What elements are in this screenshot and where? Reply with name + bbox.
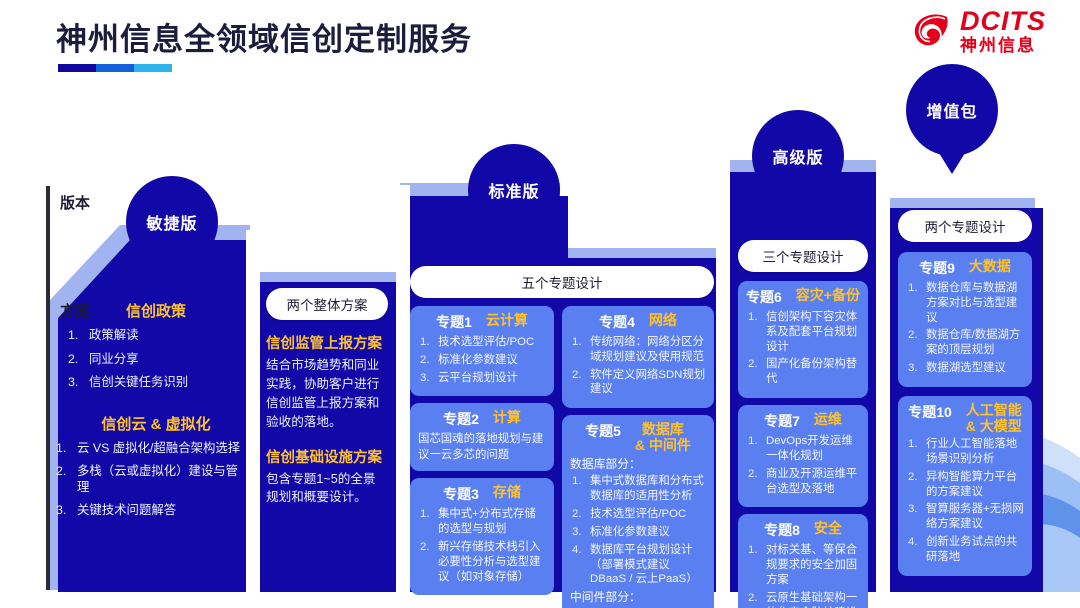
topic-card-8[interactable]: 专题8 安全 对标关基、等保合规要求的安全加固方案 云原生基础架构一体化安全防护… — [738, 514, 868, 608]
topic-card-9-num: 专题9 — [919, 258, 955, 278]
block-infrastructure-text: 包含专题1~5的全景规划和概要设计。 — [266, 470, 388, 508]
group-cloud-list: 云 VS 虚拟化/超融合架构选择 多栈（云或虚拟化）建设与管理 关键技术问题解答 — [56, 441, 244, 519]
list-item: 政策解读 — [68, 328, 244, 344]
list-item: 信创关键任务识别 — [68, 375, 244, 391]
list-item: 关键技术问题解答 — [56, 503, 244, 519]
list-item: 数据库平台规划设计（部署模式建议 DBaaS / 云上PaaS） — [570, 543, 706, 587]
topic-card-5[interactable]: 专题5 数据库 & 中间件 数据库部分： 集中式数据库和分布式数据库的适用性分析… — [562, 415, 714, 608]
page-title: 神州信息全领域信创定制服务 — [56, 14, 472, 59]
topic-card-1-num: 专题1 — [436, 312, 472, 332]
topic-card-3-topic: 存储 — [493, 484, 521, 500]
topic-card-6-num: 专题6 — [746, 287, 782, 307]
block-supervision-title: 信创监管上报方案 — [266, 332, 388, 353]
topic-card-9-list: 数据仓库与数据湖方案对比与选型建议 数据仓库/数据湖方案的顶层规划 数据湖选型建… — [906, 281, 1024, 376]
block-infrastructure-title: 信创基础设施方案 — [266, 446, 388, 467]
logo-en-text: DCITS — [960, 8, 1046, 35]
slide-canvas: 神州信息全领域信创定制服务 DCITS 神州信息 版本 方案 敏捷版 标准版 高… — [0, 0, 1080, 608]
list-item: 云平台规划设计 — [418, 371, 546, 386]
list-item: 技术选型评估/POC — [570, 507, 706, 522]
list-item: 传统网络：网络分区分域规划建议及使用规范 — [570, 335, 706, 365]
list-item: 创新业务试点的共研落地 — [906, 535, 1024, 565]
topic-card-10-list: 行业人工智能落地场景识别分析 异构智能算力平台的方案建议 智算服务器+无损网络方… — [906, 437, 1024, 565]
topic-card-6-topic: 容灾+备份 — [796, 287, 860, 303]
brand-logo: DCITS 神州信息 — [909, 8, 1046, 54]
pill-two-topic-designs[interactable]: 两个专题设计 — [898, 210, 1032, 242]
group-policy-list: 政策解读 同业分享 信创关键任务识别 — [68, 328, 244, 391]
topic-card-7-list: DevOps开发运维一体化规划 商业及开源运维平台选型及落地 — [746, 434, 860, 496]
list-item: 多栈（云或虚拟化）建设与管理 — [56, 464, 244, 495]
topic-card-5-sub-db: 数据库部分： — [570, 457, 706, 473]
list-item: 同业分享 — [68, 352, 244, 368]
topic-card-2-topic: 计算 — [493, 409, 521, 425]
pin-agile[interactable]: 敏捷版 — [126, 176, 218, 268]
group-cloud-title: 信创云 & 虚拟化 — [68, 413, 244, 434]
pill-five-topic-designs[interactable]: 五个专题设计 — [410, 266, 714, 298]
topic-card-5-list: 集中式数据库和分布式数据库的适用性分析 技术选型评估/POC 标准化参数建议 数… — [570, 474, 706, 587]
list-item: 标准化参数建议 — [570, 525, 706, 540]
topic-card-5-sub-mw: 中间件部分： — [570, 590, 706, 606]
topic-card-6[interactable]: 专题6 容灾+备份 信创架构下容灾体系及配套平台规划设计 国产化备份架构替代 — [738, 281, 868, 398]
block-supervision-text: 结合市场趋势和同业实践，协助客户进行信创监管上报方案和验收的落地。 — [266, 356, 388, 432]
topic-card-3-num: 专题3 — [443, 484, 479, 504]
topic-card-10[interactable]: 专题10 人工智能 & 大模型 行业人工智能落地场景识别分析 异构智能算力平台的… — [898, 396, 1032, 576]
topic-card-7-topic: 运维 — [814, 411, 842, 427]
topic-card-3-list: 集中式+分布式存储的选型与规划 新兴存储技术栈引入必要性分析与选型建议（如对象存… — [418, 507, 546, 584]
pin-label-agile: 敏捷版 — [126, 176, 218, 268]
underline-segment-1 — [58, 64, 96, 72]
pin-standard[interactable]: 标准版 — [468, 144, 560, 236]
pin-label-advanced: 高级版 — [752, 110, 844, 202]
pill-two-overall-solutions[interactable]: 两个整体方案 — [266, 288, 388, 320]
topic-card-7[interactable]: 专题7 运维 DevOps开发运维一体化规划 商业及开源运维平台选型及落地 — [738, 405, 868, 507]
list-item: 集中式+分布式存储的选型与规划 — [418, 507, 546, 537]
topic-card-8-topic: 安全 — [814, 520, 842, 536]
group-policy-title: 信创政策 — [68, 300, 244, 321]
list-item: 集中式数据库和分布式数据库的适用性分析 — [570, 474, 706, 504]
topic-card-8-num: 专题8 — [764, 520, 800, 540]
list-item: 软件定义网络SDN规划建议 — [570, 368, 706, 398]
topic-card-10-num: 专题10 — [908, 402, 952, 422]
topic-card-4-list: 传统网络：网络分区分域规划建议及使用规范 软件定义网络SDN规划建议 — [570, 335, 706, 397]
topic-card-1-topic: 云计算 — [486, 312, 528, 328]
topic-card-6-list: 信创架构下容灾体系及配套平台规划设计 国产化备份架构替代 — [746, 310, 860, 387]
topic-card-1[interactable]: 专题1 云计算 技术选型评估/POC 标准化参数建议 云平台规划设计 — [410, 306, 554, 396]
list-item: 行业人工智能落地场景识别分析 — [906, 437, 1024, 467]
list-item: 商业及开源运维平台选型及落地 — [746, 467, 860, 497]
column-overall-solutions: 两个整体方案 信创监管上报方案 结合市场趋势和同业实践，协助客户进行信创监管上报… — [266, 288, 388, 507]
column-advanced: 三个专题设计 专题6 容灾+备份 信创架构下容灾体系及配套平台规划设计 国产化备… — [738, 240, 868, 608]
list-item: 标准化参数建议 — [418, 353, 546, 368]
topic-card-2-text: 国芯国魂的落地规划与建议一云多芯的问题 — [418, 432, 546, 463]
list-item: DevOps开发运维一体化规划 — [746, 434, 860, 464]
group-policy: 信创政策 政策解读 同业分享 信创关键任务识别 — [68, 300, 244, 391]
topic-card-2-num: 专题2 — [443, 409, 479, 429]
list-item: 对标关基、等保合规要求的安全加固方案 — [746, 543, 860, 587]
group-cloud: 信创云 & 虚拟化 云 VS 虚拟化/超融合架构选择 多栈（云或虚拟化）建设与管… — [68, 413, 244, 519]
topic-card-5-topic: 数据库 & 中间件 — [635, 421, 691, 453]
pin-advanced[interactable]: 高级版 — [752, 110, 844, 202]
pin-label-valueadd: 增值包 — [906, 64, 998, 156]
column-standard: 五个专题设计 专题1 云计算 技术选型评估/POC 标准化参数建议 云平台规划设… — [410, 266, 714, 608]
underline-segment-3 — [134, 64, 172, 72]
topic-card-4-topic: 网络 — [649, 312, 677, 328]
list-item: 数据仓库/数据湖方案的顶层规划 — [906, 328, 1024, 358]
list-item: 数据仓库与数据湖方案对比与选型建议 — [906, 281, 1024, 325]
list-item: 信创架构下容灾体系及配套平台规划设计 — [746, 310, 860, 354]
topic-card-1-list: 技术选型评估/POC 标准化参数建议 云平台规划设计 — [418, 335, 546, 385]
pill-three-topic-designs[interactable]: 三个专题设计 — [738, 240, 868, 272]
topic-card-5-num: 专题5 — [585, 421, 621, 441]
topic-card-8-list: 对标关基、等保合规要求的安全加固方案 云原生基础架构一体化安全防护建设方案 — [746, 543, 860, 608]
list-item: 智算服务器+无损网络方案建议 — [906, 502, 1024, 532]
title-underline — [58, 64, 172, 72]
block-supervision: 信创监管上报方案 结合市场趋势和同业实践，协助客户进行信创监管上报方案和验收的落… — [266, 332, 388, 432]
topic-card-10-topic: 人工智能 & 大模型 — [966, 402, 1022, 434]
topic-card-9[interactable]: 专题9 大数据 数据仓库与数据湖方案对比与选型建议 数据仓库/数据湖方案的顶层规… — [898, 252, 1032, 387]
list-item: 数据湖选型建议 — [906, 361, 1024, 376]
topic-card-4[interactable]: 专题4 网络 传统网络：网络分区分域规划建议及使用规范 软件定义网络SDN规划建… — [562, 306, 714, 408]
topic-card-3[interactable]: 专题3 存储 集中式+分布式存储的选型与规划 新兴存储技术栈引入必要性分析与选型… — [410, 478, 554, 595]
list-item: 新兴存储技术栈引入必要性分析与选型建议（如对象存储） — [418, 540, 546, 584]
underline-segment-2 — [96, 64, 134, 72]
column-agile: 信创政策 政策解读 同业分享 信创关键任务识别 信创云 & 虚拟化 云 VS 虚… — [68, 300, 244, 527]
list-item: 云原生基础架构一体化安全防护建设方案 — [746, 591, 860, 608]
column-value-added: 两个专题设计 专题9 大数据 数据仓库与数据湖方案对比与选型建议 数据仓库/数据… — [898, 210, 1032, 576]
axis-label-version: 版本 — [60, 192, 90, 213]
list-item: 技术选型评估/POC — [418, 335, 546, 350]
topic-card-9-topic: 大数据 — [969, 258, 1011, 274]
list-item: 国产化备份架构替代 — [746, 357, 860, 387]
block-infrastructure: 信创基础设施方案 包含专题1~5的全景规划和概要设计。 — [266, 446, 388, 508]
topic-card-2[interactable]: 专题2 计算 国芯国魂的落地规划与建议一云多芯的问题 — [410, 403, 554, 471]
pin-valueadd[interactable]: 增值包 — [906, 64, 998, 156]
topic-card-7-num: 专题7 — [764, 411, 800, 431]
list-item: 云 VS 虚拟化/超融合架构选择 — [56, 441, 244, 457]
axis-vertical-line — [46, 186, 50, 590]
dcits-swirl-icon — [909, 8, 955, 54]
list-item: 异构智能算力平台的方案建议 — [906, 470, 1024, 500]
logo-cn-text: 神州信息 — [960, 37, 1046, 54]
pin-label-standard: 标准版 — [468, 144, 560, 236]
topic-card-4-num: 专题4 — [599, 312, 635, 332]
